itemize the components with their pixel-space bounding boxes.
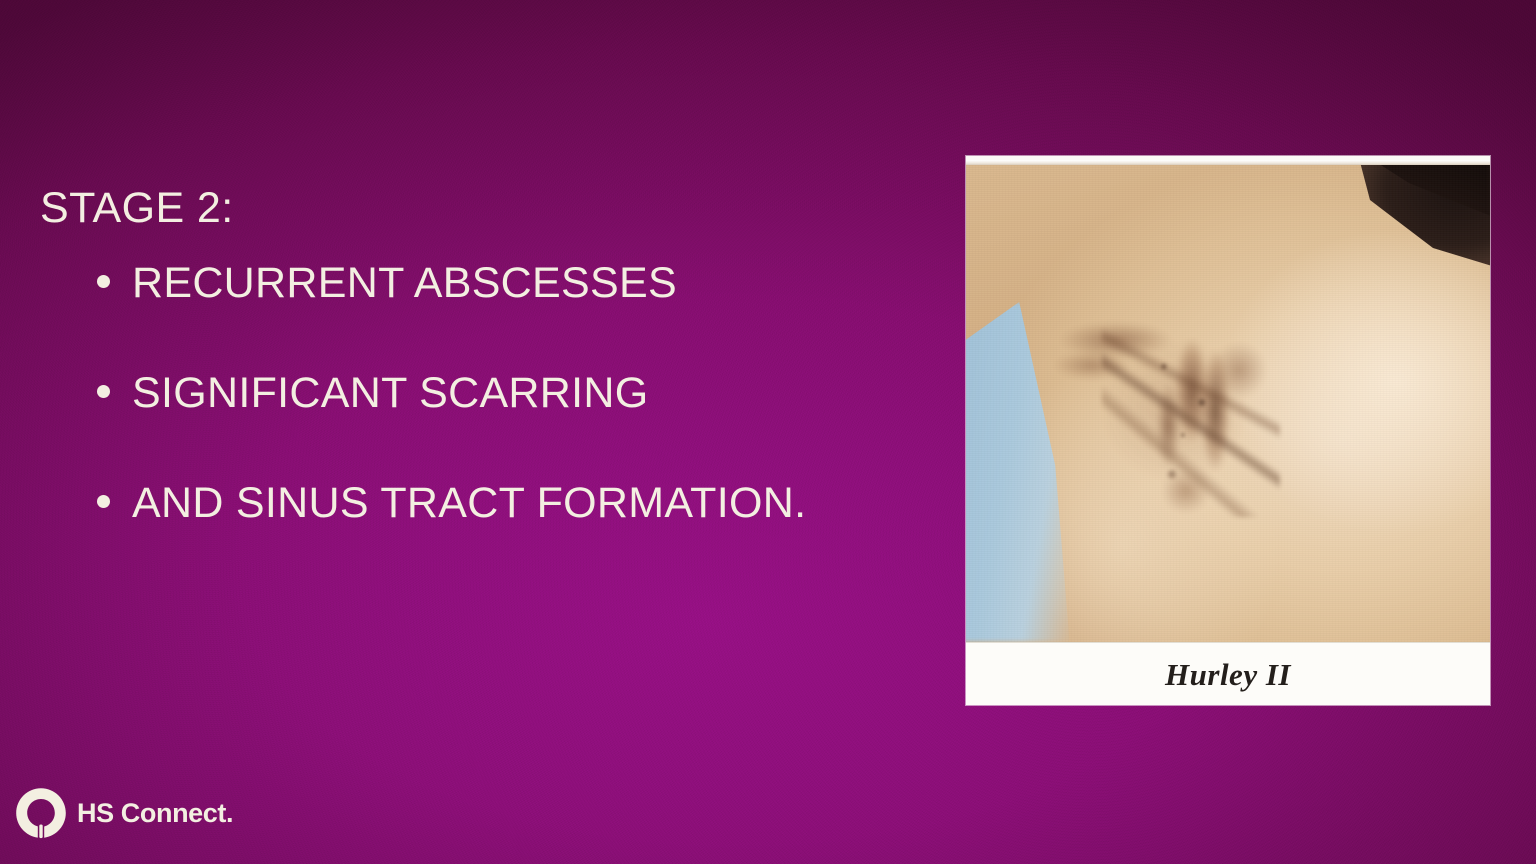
clinical-photo-image (966, 160, 1490, 642)
bullet-dot-icon (97, 495, 110, 508)
list-item: AND SINUS TRACT FORMATION. (40, 474, 900, 532)
brand-logo: HS Connect. (14, 786, 233, 840)
slide-canvas: STAGE 2: RECURRENT ABSCESSES SIGNIFICANT… (0, 0, 1536, 864)
bullet-text: RECURRENT ABSCESSES (132, 259, 677, 307)
photo-grain-texture (966, 160, 1490, 642)
photo-caption: Hurley II (966, 657, 1490, 693)
photo-top-edge (966, 160, 1490, 165)
bullet-text: SIGNIFICANT SCARRING (132, 369, 648, 417)
brand-wordmark: HS Connect. (77, 798, 233, 829)
clinical-photo-card: Hurley II (966, 156, 1490, 705)
photo-caption-band: Hurley II (966, 642, 1490, 705)
slide-text-column: STAGE 2: RECURRENT ABSCESSES SIGNIFICANT… (40, 186, 900, 532)
page-title: STAGE 2: (40, 186, 900, 232)
bullet-text: AND SINUS TRACT FORMATION. (132, 479, 806, 527)
bullet-list: RECURRENT ABSCESSES SIGNIFICANT SCARRING… (40, 254, 900, 532)
list-item: SIGNIFICANT SCARRING (40, 364, 900, 422)
list-item: RECURRENT ABSCESSES (40, 254, 900, 312)
bullet-dot-icon (97, 385, 110, 398)
hs-connect-ring-icon (14, 786, 68, 840)
bullet-dot-icon (97, 275, 110, 288)
